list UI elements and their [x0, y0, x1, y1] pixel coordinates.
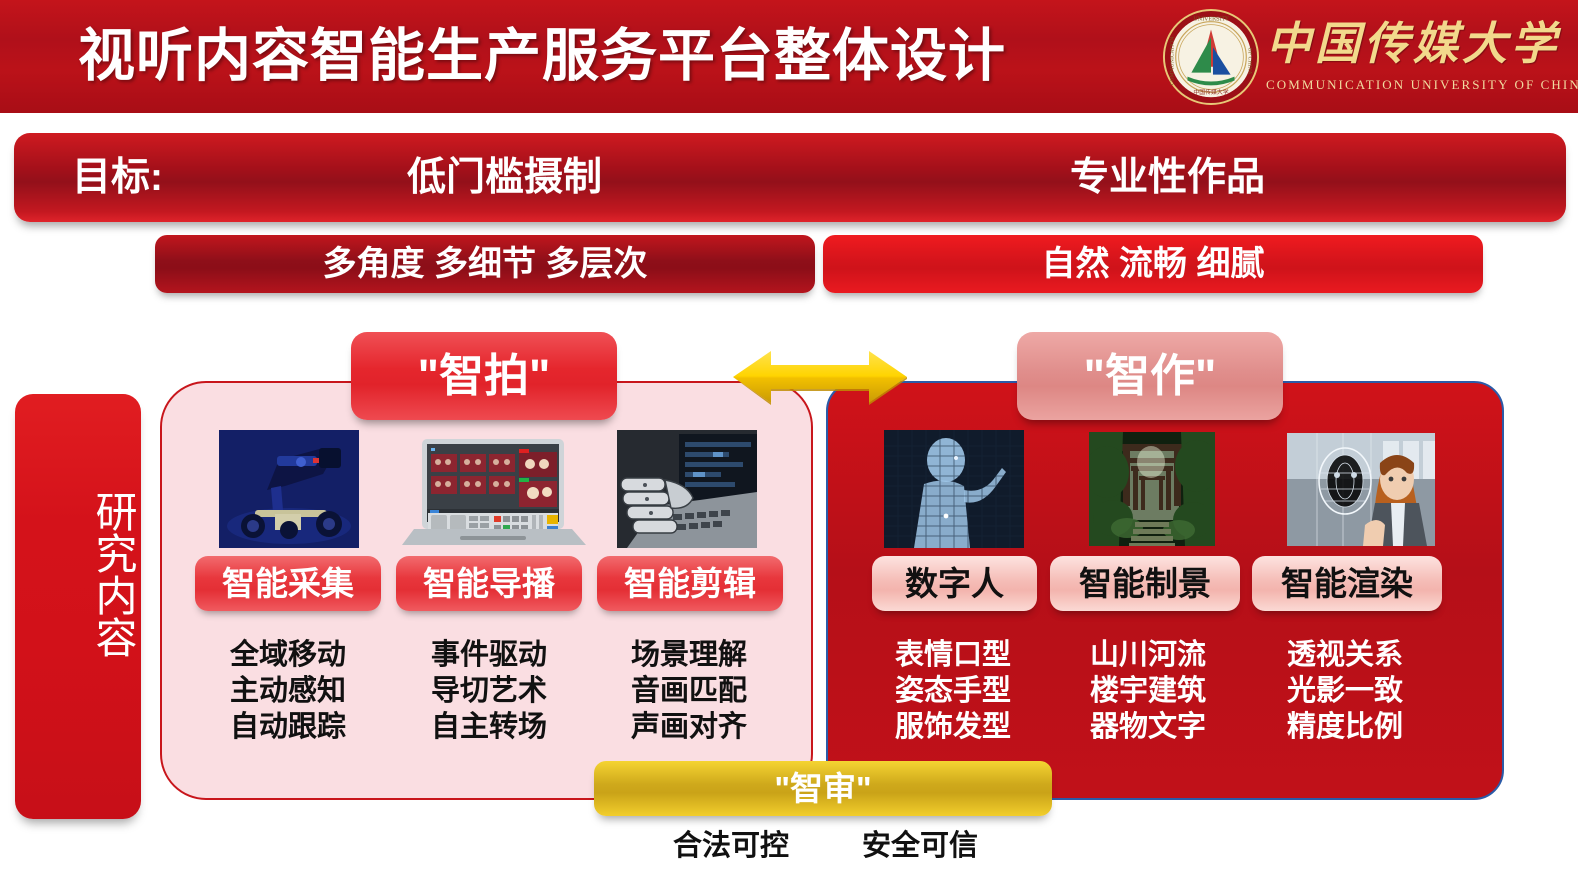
feature-list-editing: 场景理解 音画匹配 声画对齐	[594, 637, 784, 745]
forest-shrine-scene-image	[1089, 432, 1215, 546]
svg-text:中国传媒大学: 中国传媒大学	[1193, 88, 1228, 96]
goal-bar: 目标: 低门槛摄制 专业性作品	[14, 133, 1566, 222]
chip-intelligent-directing[interactable]: 智能导播	[396, 556, 582, 611]
audit-sub-secure: 安全可信	[862, 828, 978, 864]
feature-list-scene: 山川河流 楼宇建筑 器物文字	[1053, 637, 1243, 745]
svg-text:COMMUNICATION: COMMUNICATION	[1170, 36, 1176, 85]
svg-text:OF CHINA: OF CHINA	[1246, 48, 1252, 75]
research-content-text: 研究内容	[15, 490, 141, 658]
slide-canvas: 视听内容智能生产服务平台整体设计 中国传媒大学 UNIVERSITY COMMU…	[0, 0, 1578, 881]
holographic-face-render-image	[1287, 433, 1435, 546]
tab-zhizuo[interactable]: "智作"	[1017, 332, 1283, 420]
chip-digital-human[interactable]: 数字人	[872, 556, 1037, 611]
feature-item: 声画对齐	[594, 709, 784, 745]
chip-intelligent-capture[interactable]: 智能采集	[195, 556, 381, 611]
feature-item: 山川河流	[1053, 637, 1243, 673]
goal-sub-bar-left: 多角度 多细节 多层次	[155, 235, 815, 293]
goal-left-text: 低门槛摄制	[407, 155, 602, 201]
digital-human-wireframe-image	[884, 430, 1024, 548]
feature-list-capture: 全域移动 主动感知 自动跟踪	[193, 637, 383, 745]
double-headed-arrow-icon	[731, 345, 909, 409]
feature-item: 光影一致	[1250, 673, 1440, 709]
tab-zhipai[interactable]: "智拍"	[351, 332, 617, 420]
feature-list-directing: 事件驱动 导切艺术 自主转场	[394, 637, 584, 745]
logo-chinese-name: 中国传媒大学	[1266, 15, 1562, 73]
audit-sub-legal: 合法可控	[673, 828, 789, 864]
logo-english-name: COMMUNICATION UNIVERSITY OF CHINA	[1266, 77, 1566, 95]
feature-item: 自主转场	[394, 709, 584, 745]
chip-intelligent-editing[interactable]: 智能剪辑	[597, 556, 783, 611]
feature-item: 透视关系	[1250, 637, 1440, 673]
feature-item: 器物文字	[1053, 709, 1243, 745]
feature-item: 精度比例	[1250, 709, 1440, 745]
robot-hand-editing-image	[617, 430, 757, 548]
feature-item: 服饰发型	[858, 709, 1048, 745]
goal-label: 目标:	[72, 155, 163, 201]
feature-item: 音画匹配	[594, 673, 784, 709]
camera-dolly-robot-image	[219, 430, 359, 548]
page-title: 视听内容智能生产服务平台整体设计	[78, 14, 1148, 98]
feature-list-rendering: 透视关系 光影一致 精度比例	[1250, 637, 1440, 745]
goal-right-text: 专业性作品	[1070, 155, 1265, 201]
feature-item: 场景理解	[594, 637, 784, 673]
university-logo: 中国传媒大学 UNIVERSITY COMMUNICATION OF CHINA…	[1162, 5, 1562, 109]
audit-bar-zhishen[interactable]: "智审"	[594, 761, 1052, 816]
feature-item: 导切艺术	[394, 673, 584, 709]
cuc-emblem-icon: 中国传媒大学 UNIVERSITY COMMUNICATION OF CHINA	[1162, 8, 1260, 106]
feature-item: 事件驱动	[394, 637, 584, 673]
svg-text:UNIVERSITY: UNIVERSITY	[1193, 17, 1229, 23]
feature-item: 楼宇建筑	[1053, 673, 1243, 709]
laptop-broadcast-switcher-image	[400, 437, 586, 548]
feature-item: 姿态手型	[858, 673, 1048, 709]
feature-item: 表情口型	[858, 637, 1048, 673]
feature-item: 主动感知	[193, 673, 383, 709]
feature-item: 全域移动	[193, 637, 383, 673]
research-content-label: 研究内容	[15, 394, 141, 819]
feature-list-digital-human: 表情口型 姿态手型 服饰发型	[858, 637, 1048, 745]
chip-intelligent-rendering[interactable]: 智能渲染	[1252, 556, 1442, 611]
page-header: 视听内容智能生产服务平台整体设计 中国传媒大学 UNIVERSITY COMMU…	[0, 0, 1578, 113]
chip-scene-generation[interactable]: 智能制景	[1050, 556, 1240, 611]
goal-sub-bar-right: 自然 流畅 细腻	[823, 235, 1483, 293]
feature-item: 自动跟踪	[193, 709, 383, 745]
